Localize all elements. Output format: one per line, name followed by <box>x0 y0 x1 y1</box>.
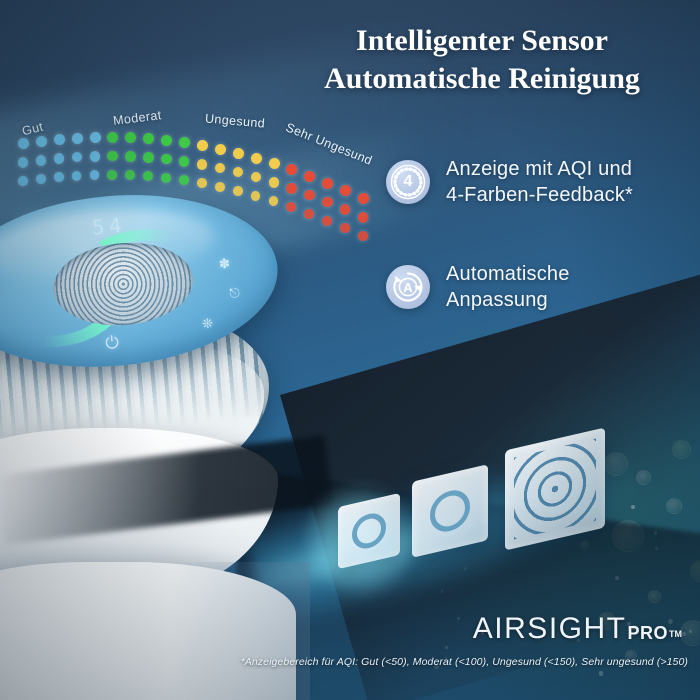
auto-adjust-badge-icon: A <box>386 265 430 309</box>
headline-line-1: Intelligenter Sensor <box>282 22 682 60</box>
feature-line-1: Automatische <box>446 261 570 287</box>
feature-text-aqi: Anzeige mit AQI und 4-Farben-Feedback* <box>446 156 633 209</box>
feature-text-auto: Automatische Anpassung <box>446 261 570 314</box>
feature-item-aqi-display: 4 Anzeige mit AQI und 4-Farben-Feedback* <box>386 156 633 209</box>
product-feature-image: Gut Moderat Ungesund Sehr Ungesund 54 ◎ … <box>0 0 700 700</box>
aqi-four-color-badge-icon: 4 <box>386 160 430 204</box>
logo-pro: PRO <box>627 623 668 646</box>
feature-line-1: Anzeige mit AQI und <box>446 156 633 182</box>
feature-line-2: 4-Farben-Feedback* <box>446 182 633 208</box>
brand-logo: AIRSIGHT PRO TM <box>473 612 682 646</box>
headline-line-2: Automatische Reinigung <box>282 60 682 98</box>
vignette <box>0 0 700 700</box>
logo-trademark: TM <box>669 629 682 646</box>
logo-wordmark: AIRSIGHT <box>473 612 627 646</box>
page-title: Intelligenter Sensor Automatische Reinig… <box>282 22 682 97</box>
feature-line-2: Anpassung <box>446 287 570 313</box>
footnote-aqi-ranges: *Anzeigebereich für AQI: Gut (<50), Mode… <box>241 656 688 668</box>
feature-item-auto-adjust: A Automatische Anpassung <box>386 261 570 314</box>
badge-value: A <box>403 280 412 295</box>
badge-value: 4 <box>404 173 413 191</box>
